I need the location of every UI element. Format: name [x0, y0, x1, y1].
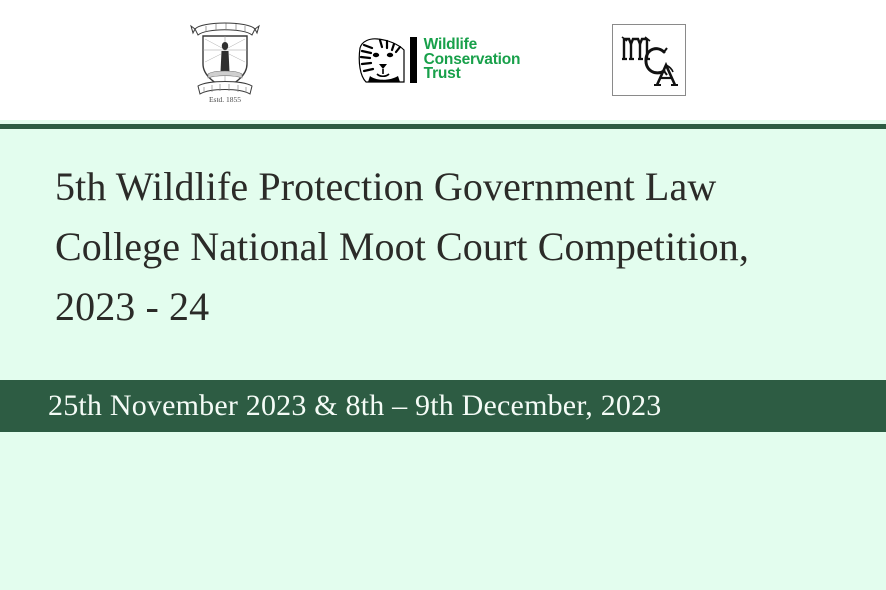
logo-header: Estd. 1855 [0, 0, 886, 120]
footer-empty-area [0, 432, 886, 590]
logo-divider-bar [410, 37, 417, 83]
crest-established-text: Estd. 1855 [209, 95, 241, 104]
logo-row: Estd. 1855 [186, 16, 687, 104]
title-line-3: 2023 - 24 [55, 277, 842, 337]
wildlife-conservation-trust-logo: Wildlife Conservation Trust [356, 35, 521, 85]
title-line-2: College National Moot Court Competition, [55, 217, 842, 277]
wct-wordmark: Wildlife Conservation Trust [424, 38, 521, 82]
college-crest-logo: Estd. 1855 [186, 16, 264, 104]
tiger-head-icon [356, 36, 412, 84]
date-banner-text: 25th November 2023 & 8th – 9th December,… [0, 380, 662, 432]
poster-canvas: Estd. 1855 [0, 0, 886, 590]
poster-body: 5th Wildlife Protection Government Law C… [0, 129, 886, 337]
page-title: 5th Wildlife Protection Government Law C… [0, 129, 886, 337]
title-line-1: 5th Wildlife Protection Government Law [55, 157, 842, 217]
mca-monogram-logo [612, 24, 686, 96]
date-banner: 25th November 2023 & 8th – 9th December,… [0, 380, 886, 432]
wct-word-line-3: Trust [424, 67, 521, 82]
